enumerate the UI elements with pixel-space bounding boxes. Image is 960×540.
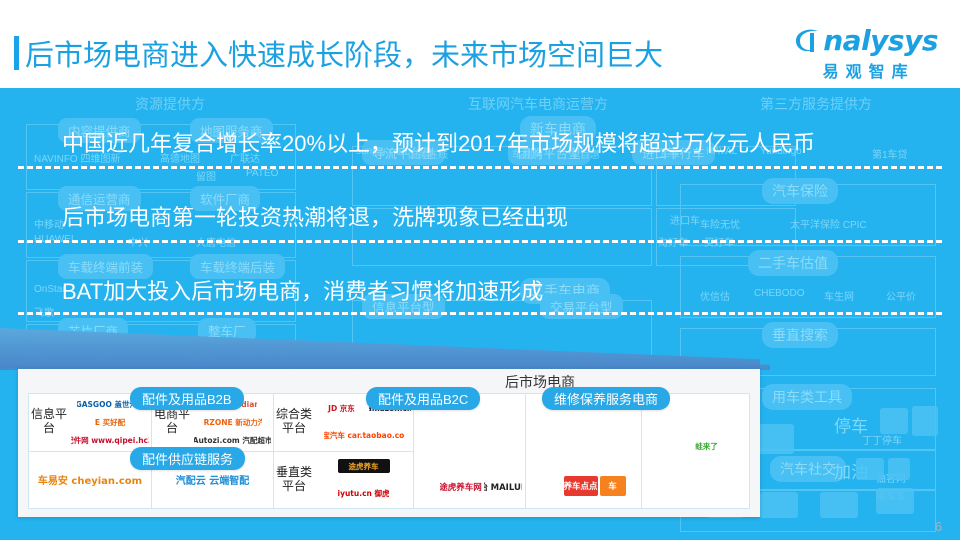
pill-repair-service[interactable]: 维修保养服务电商 — [542, 387, 670, 410]
title-text: 后市场电商进入快速成长阶段，未来市场空间巨大 — [25, 32, 663, 74]
logo-yangchediandian: 养车点点 — [564, 476, 598, 496]
logo-wordmark: nalysys — [823, 24, 938, 57]
dashed-separator-1 — [18, 166, 942, 169]
bg-logo-liutu: 留图 — [196, 168, 216, 183]
bg-column-title-thirdparty: 第三方服务提供方 — [760, 94, 872, 114]
bg-logo-youxingu: 优信估 — [700, 288, 730, 303]
analysys-logo: nalysys 易观智库 — [792, 24, 938, 82]
pill-parts-supplychain[interactable]: 配件供应链服务 — [130, 447, 245, 470]
row-traffic-platform: 导流平台型 养车点点 车 汽车超人 养车宝 车蚂蚁网 chemayi.com — [526, 394, 641, 540]
slide-header: 后市场电商进入快速成长阶段，未来市场空间巨大 nalysys 易观智库 — [0, 0, 960, 88]
row-label-vertical: 垂直类平台 — [274, 466, 314, 494]
vertical-label-onsite-service: 上门服务型 — [642, 394, 664, 540]
logo-tuhu-yangche: 途虎养车网 — [440, 477, 482, 497]
pill-parts-b2b[interactable]: 配件及用品B2B — [130, 387, 244, 410]
bg-tile-4 — [912, 406, 938, 436]
dashed-separator-2 — [18, 240, 942, 243]
aftermarket-detail-panel: 后市场电商 配件及用品B2B 配件供应链服务 配件及用品B2C 维修保养服务电商… — [18, 369, 760, 517]
statement-1: 中国近几年复合增长率20%以上，预计到2017年市场规模将超过万亿元人民币 — [62, 126, 815, 158]
logo-e2: E 买好配 — [84, 415, 136, 429]
row-vertical-platform: 垂直类平台 途虎养车 iyutu.cn 御虎 — [274, 452, 413, 509]
bg-pill-insurance: 汽车保险 — [762, 178, 838, 204]
bg-pill-valuation: 二手车估值 — [748, 250, 838, 276]
bg-logo-dingding-parking: 丁丁停车 — [862, 432, 902, 447]
column-onsite-service: 上门服务型 蛙来了 e保养 弼马温 BOPAI博派 卡拉丁 — [642, 394, 749, 508]
bg-pill-vertical-search: 垂直搜索 — [762, 322, 838, 348]
bg-tile-3 — [880, 408, 908, 434]
logo-jd: JD 京东 — [317, 402, 367, 416]
row-label-comprehensive: 综合类平台 — [274, 408, 314, 436]
bg-logo-pateo: PATEO — [246, 168, 278, 179]
statement-2: 后市场电商第一轮投资热潮将退，洗牌现象已经出现 — [62, 200, 568, 232]
bg-pill-car-tools: 用车类工具 — [762, 384, 852, 410]
title-accent-bar — [14, 36, 19, 70]
bg-logo-chexianwuyou: 车险无忧 — [700, 216, 740, 231]
column-b2c: 综合类平台 JD 京东 amazon.cn 淘宝汽车 car.taobao.co… — [274, 394, 414, 508]
page-number: 6 — [935, 519, 942, 534]
pill-parts-b2c[interactable]: 配件及用品B2C — [366, 387, 480, 410]
logo-iyutu: iyutu.cn 御虎 — [322, 486, 406, 500]
ecosystem-map-area: 资源提供方 互联网汽车电商运营方 第三方服务提供方 新车电商 二手车电商 内容提… — [0, 88, 960, 540]
logo-group-vertical: 途虎养车 iyutu.cn 御虎 — [314, 452, 413, 509]
bg-tile-6 — [888, 458, 910, 480]
row-label-ecom-platform: 电商平台 — [152, 408, 192, 436]
bg-pill-trade-platform: 交易平台型 — [540, 294, 623, 319]
logo-chinese-name: 易观智库 — [792, 58, 938, 82]
bg-logo-gongpingjia: 公平价 — [886, 288, 916, 303]
page-title: 后市场电商进入快速成长阶段，未来市场空间巨大 — [14, 32, 663, 74]
logo-cheyian: 车易安 cheyian.com — [34, 467, 146, 493]
analysys-swirl-icon — [792, 26, 822, 56]
column-self-operated: 电商自营型 途虎养车网 麦轮胎 MAILUNTAI 车享家 养车无忧 YANGC… — [414, 394, 526, 508]
bg-column-title-resource: 资源提供方 — [135, 94, 205, 114]
statement-3: BAT加大投入后市场电商，消费者习惯将加速形成 — [62, 274, 543, 306]
row-self-operated: 电商自营型 途虎养车网 麦轮胎 MAILUNTAI 车享家 养车无忧 YANGC… — [414, 394, 525, 540]
logo-autozi: Autozi.com 汽配超市 — [194, 433, 271, 447]
vertical-label-self-operated: 电商自营型 — [414, 394, 436, 540]
logo-carzone: CARZONE 新动力汽配 — [204, 415, 262, 429]
bg-tile-2 — [756, 424, 794, 454]
bg-logo-chesheng: 车生网 — [824, 288, 854, 303]
bg-logo-chebodo: CHEBODO — [754, 288, 805, 299]
row-onsite-service: 上门服务型 蛙来了 e保养 弼马温 BOPAI博派 卡拉丁 — [642, 394, 749, 540]
logo-hc360: 慧聪汽车配件网 www.qipei.hc360.com — [71, 433, 149, 447]
logo-group-traffic-platform: 养车点点 车 汽车超人 养车宝 车蚂蚁网 chemayi.com — [548, 394, 641, 540]
slide-root: 后市场电商进入快速成长阶段，未来市场空间巨大 nalysys 易观智库 资源提供… — [0, 0, 960, 540]
logo-che: 车 — [600, 476, 626, 496]
logo-walaile: 蛙来了 — [690, 439, 724, 453]
logo-group-onsite-service: 蛙来了 e保养 弼马温 BOPAI博派 卡拉丁 — [664, 394, 749, 540]
bg-column-title-operator: 互联网汽车电商运营方 — [468, 94, 608, 114]
logo-wordmark-row: nalysys — [792, 24, 938, 57]
logo-mailuntai: 麦轮胎 MAILUNTAI — [484, 477, 522, 497]
logo-qipeiyun: 汽配云 云端智配 — [157, 467, 269, 493]
bg-logo-jinkouche: 进口车 — [670, 212, 700, 227]
logo-taobao-car: 淘宝汽车 car.taobao.com — [324, 429, 404, 443]
bg-logo-cpic: 太平洋保险 CPIC — [790, 216, 867, 231]
bg-tile-5 — [856, 458, 884, 480]
row-label-info-platform: 信息平台 — [29, 408, 69, 436]
logo-tuhu: 途虎养车 — [338, 459, 390, 473]
dashed-separator-3 — [18, 312, 942, 315]
bg-logo-diyichedai: 第1车贷 — [872, 146, 908, 161]
column-traffic-platform: 导流平台型 养车点点 车 汽车超人 养车宝 车蚂蚁网 chemayi.com — [526, 394, 642, 508]
bg-logo-cmcc: 中移动 — [34, 216, 64, 231]
logo-group-self-operated: 途虎养车网 麦轮胎 MAILUNTAI 车享家 养车无忧 YANGCHEWUYO… — [436, 394, 525, 540]
bg-logo-onstar: OnStar — [34, 284, 66, 295]
vertical-label-traffic-platform: 导流平台型 — [526, 394, 548, 540]
